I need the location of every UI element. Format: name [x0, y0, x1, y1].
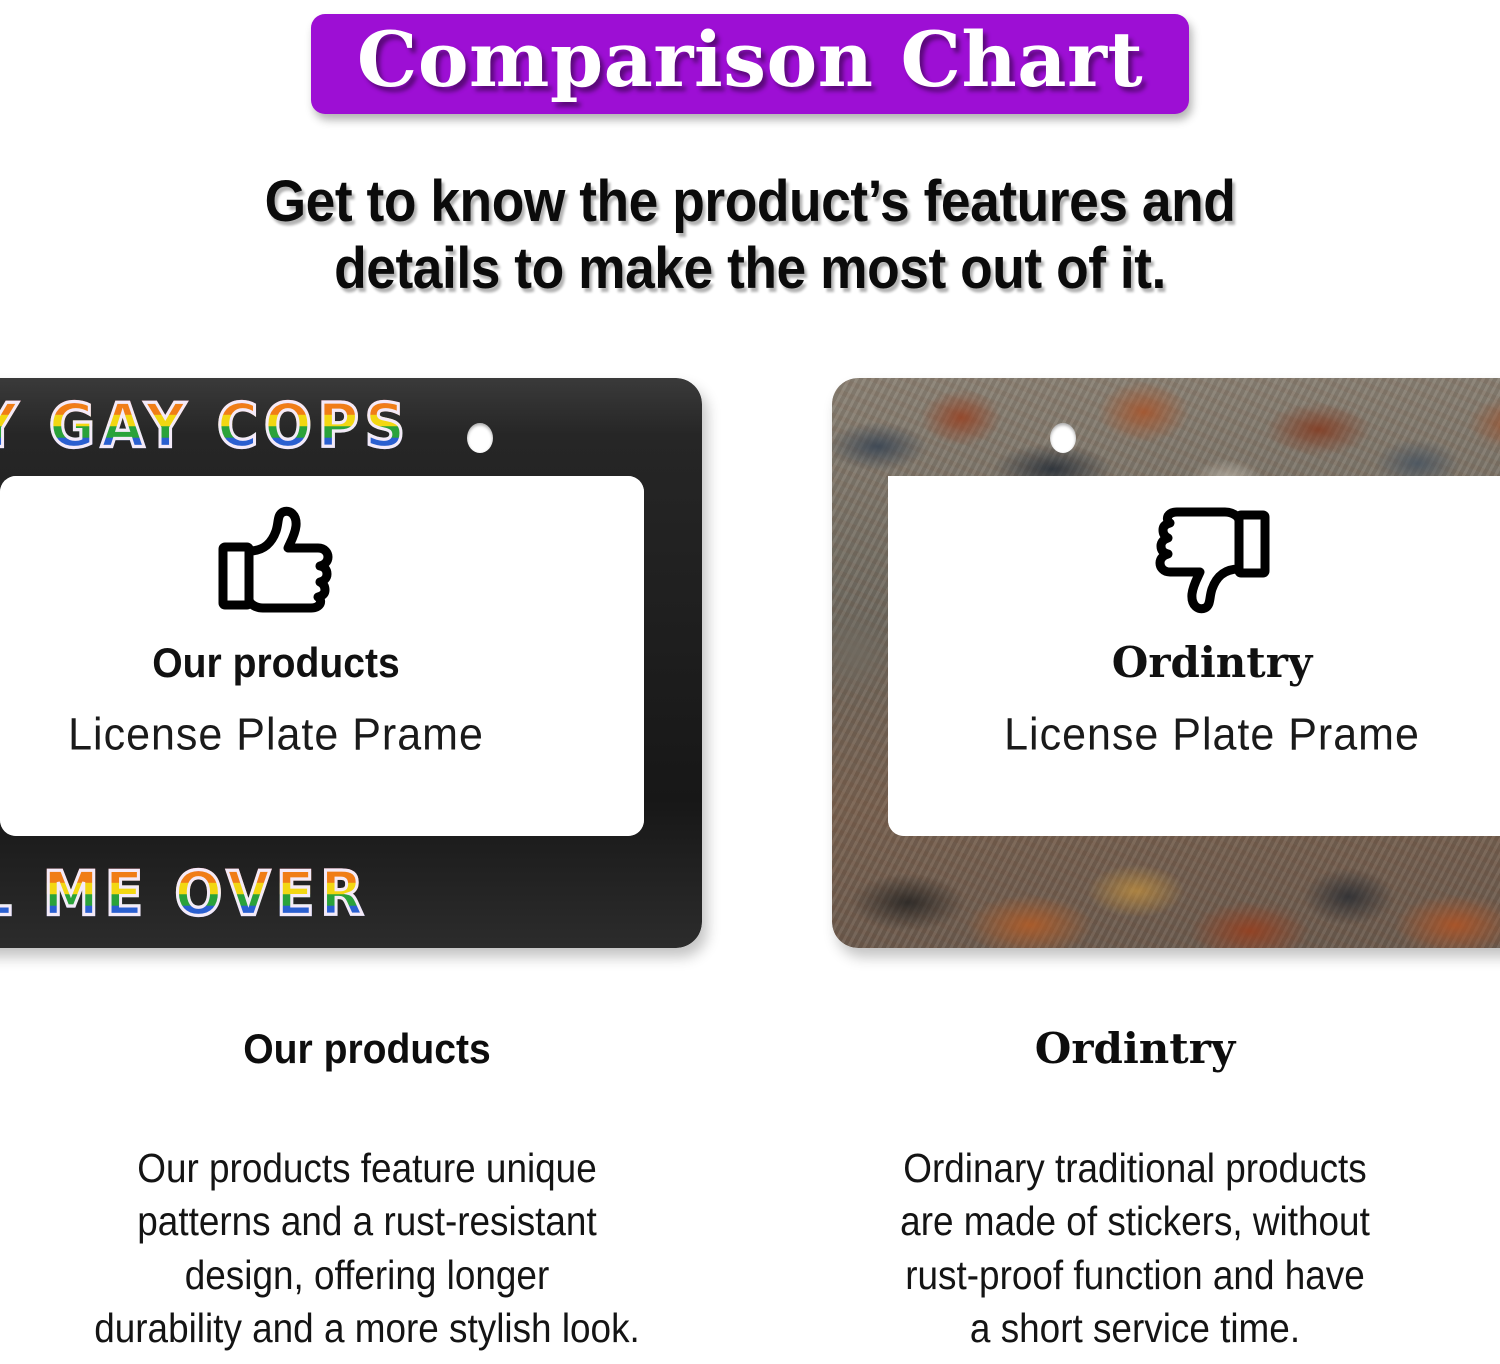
body-line: Ordinary traditional products	[825, 1142, 1446, 1195]
body-line: patterns and a rust-resistant	[57, 1195, 678, 1248]
page-title: Comparison Chart	[357, 20, 1143, 100]
subtitle-line-1: Get to know the product’s features and	[60, 168, 1440, 235]
title-banner: Comparison Chart	[0, 14, 1500, 114]
thumbs-up-icon	[217, 504, 335, 616]
page-subtitle: Get to know the product’s features and d…	[60, 168, 1440, 303]
ordinary-brand-label: Ordintry	[832, 642, 1500, 684]
comparison-column-ordinary: Ordintry Ordinary traditional products a…	[790, 1028, 1480, 1355]
ordinary-product-kind: License Plate Prame	[832, 713, 1500, 758]
body-line: rust-proof function and have	[825, 1249, 1446, 1302]
comparison-body-ordinary: Ordinary traditional products are made o…	[825, 1142, 1446, 1355]
comparison-heading-ordinary: Ordintry	[790, 1028, 1480, 1070]
our-product-kind: License Plate Prame	[0, 713, 702, 758]
mounting-hole-icon	[467, 423, 493, 453]
body-line: are made of stickers, without	[825, 1195, 1446, 1248]
our-product-window-content: Our products License Plate Prame	[0, 504, 702, 757]
slogan-top-rainbow: LY GAY COPS	[0, 391, 411, 461]
slogan-bottom-rainbow: L ME OVER	[0, 859, 369, 929]
body-line: Our products feature unique	[57, 1142, 678, 1195]
comparison-body-ours: Our products feature unique patterns and…	[57, 1142, 678, 1355]
ordinary-product-plate-frame: Ordintry License Plate Prame	[832, 378, 1500, 948]
ordinary-product-window-content: Ordintry License Plate Prame	[832, 504, 1500, 757]
body-line: durability and a more stylish look.	[57, 1302, 678, 1355]
comparison-text-row: Our products Our products feature unique…	[0, 1028, 1500, 1364]
our-product-plate-frame: LY GAY COPS L ME OVER Our products Licen…	[0, 378, 702, 948]
comparison-column-ours: Our products Our products feature unique…	[22, 1028, 712, 1355]
body-line: a short service time.	[825, 1302, 1446, 1355]
title-badge: Comparison Chart	[311, 14, 1189, 114]
our-brand-label: Our products	[0, 642, 672, 684]
comparison-heading-ours: Our products	[46, 1028, 688, 1070]
mounting-hole-icon	[1050, 423, 1076, 453]
body-line: design, offering longer	[57, 1249, 678, 1302]
thumbs-down-icon	[1153, 504, 1271, 616]
product-frames-row: LY GAY COPS L ME OVER Our products Licen…	[0, 378, 1500, 966]
subtitle-line-2: details to make the most out of it.	[60, 235, 1440, 302]
